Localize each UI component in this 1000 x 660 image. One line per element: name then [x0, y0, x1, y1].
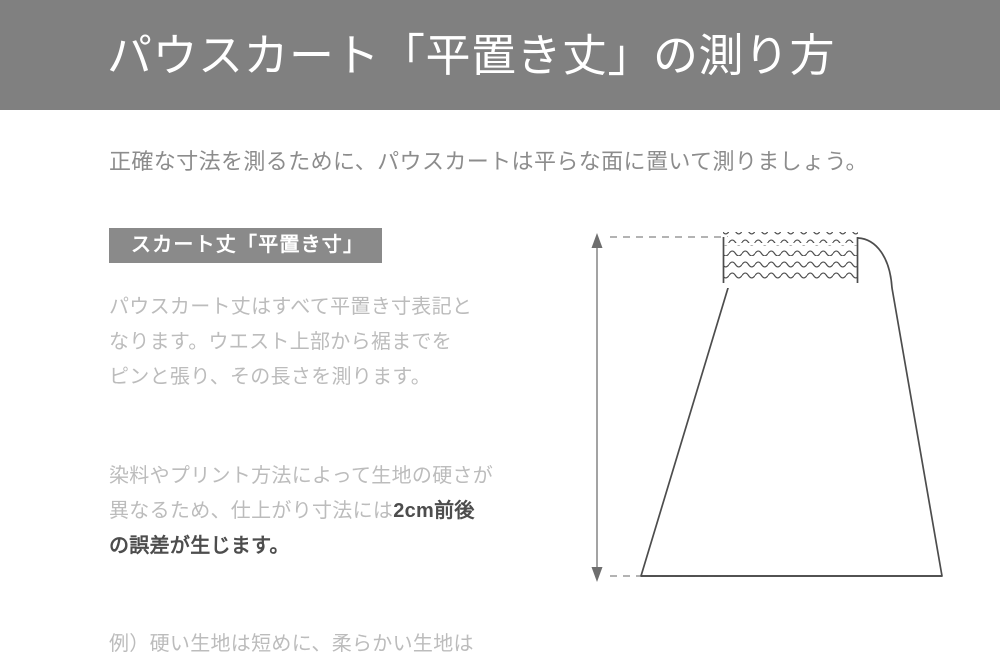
left-content-column: スカート丈「平置き寸」 パウスカート丈はすべて平置き寸表記と なります。ウエスト… — [109, 228, 549, 660]
section-badge-skirt-length: スカート丈「平置き寸」 — [109, 228, 382, 263]
header-band: パウスカート「平置き丈」の測り方 — [0, 0, 1000, 110]
paragraph-example-notice: 例）硬い生地は短めに、柔らかい生地は 長めの仕上がりになります。 — [109, 592, 549, 660]
page-root: パウスカート「平置き丈」の測り方 正確な寸法を測るために、パウスカートは平らな面… — [0, 0, 1000, 660]
measure-arrow-icon — [592, 233, 603, 582]
example-label: 例） — [109, 627, 150, 660]
paragraph-tolerance-notice: 染料やプリント方法によって生地の硬さが 異なるため、仕上がり寸法には2cm前後 … — [109, 424, 549, 564]
example-body-text: 硬い生地は短めに、柔らかい生地は 長めの仕上がりになります。 — [150, 627, 510, 660]
skirt-measurement-diagram — [560, 215, 980, 600]
waistband-rect — [723, 232, 858, 288]
paragraph-flat-length-notice: パウスカート丈はすべて平置き寸表記と なります。ウエスト上部から裾までを ピンと… — [109, 290, 549, 395]
intro-text: 正確な寸法を測るために、パウスカートは平らな面に置いて測りましょう。 — [109, 145, 939, 179]
page-title: パウスカート「平置き丈」の測り方 — [107, 30, 967, 82]
skirt-body-outline — [641, 238, 942, 576]
